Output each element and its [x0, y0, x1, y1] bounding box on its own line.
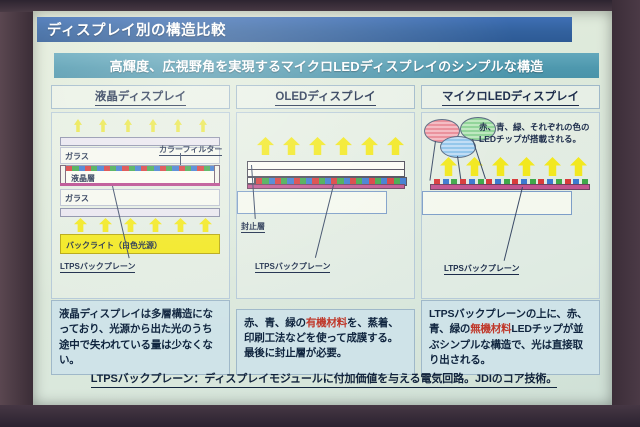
leader-chip-red [429, 141, 436, 181]
light-arrow [149, 119, 157, 132]
column-header-lcd: 液晶ディスプレイ [51, 85, 230, 109]
light-arrow [124, 119, 132, 132]
light-arrow [518, 157, 535, 176]
slide-title: ディスプレイ別の構造比較 [37, 19, 226, 40]
backlight-arrow [149, 218, 162, 232]
screen-frame-left [0, 0, 34, 427]
label-encapsulation: 封止層 [241, 221, 265, 233]
backlight-arrow [174, 218, 187, 232]
description-oled: 赤、青、緑の有機材料を、蒸着、印刷工法などを使って成膜する。最後に封止層が必要。 [236, 309, 415, 375]
label-color-filter: カラーフィルター [159, 144, 222, 156]
label-ltps-backplane: LTPSバックプレーン [60, 261, 135, 273]
column-header-oled: OLEDディスプレイ [236, 85, 415, 109]
column-title-microled: マイクロLEDディスプレイ [442, 88, 579, 106]
column-microled: マイクロLEDディスプレイ 赤、青、緑、それぞれの色のLEDチップが搭載される。 [421, 85, 600, 375]
description-highlight: 有機材料 [306, 317, 347, 329]
led-chip-bubble-blue [440, 136, 476, 158]
layer-lc-side-right [214, 165, 220, 185]
backlight-arrow [199, 218, 212, 232]
footer-note-text: LTPSバックプレーン：ディスプレイモジュールに付加価値を与える電気回路。JDI… [91, 370, 557, 388]
label-ltps-backplane: LTPSバックプレーン [255, 261, 330, 273]
layer-ltps-backplane-bar [430, 184, 590, 190]
leader-chip-blue [457, 156, 461, 181]
light-arrow [492, 157, 509, 176]
callout-text: 赤、青、緑、それぞれの色のLEDチップが搭載される。 [479, 122, 590, 144]
label-glass-upper: ガラス [65, 151, 89, 162]
layer-tft-line [60, 183, 220, 186]
light-arrow [199, 119, 207, 132]
layer-oled-backplane-line [247, 184, 405, 189]
light-arrow [570, 157, 587, 176]
light-arrow [361, 137, 378, 155]
layer-polarizer-bottom [60, 208, 220, 217]
slide-title-bar: ディスプレイ別の構造比較 [37, 17, 572, 42]
description-text-lcd: 液晶ディスプレイは多層構造になっており、光源から出た光のうち途中で失われている量… [59, 308, 213, 366]
light-arrow [544, 157, 561, 176]
column-lcd: 液晶ディスプレイ ガラス [51, 85, 230, 375]
light-arrow [335, 137, 352, 155]
projected-slide: ディスプレイ別の構造比較 高輝度、広視野角を実現するマイクロLEDディスプレイの… [33, 11, 612, 405]
footer-note: LTPSバックプレーン：ディスプレイモジュールに付加価値を与える電気回路。JDI… [57, 367, 591, 391]
light-arrow [387, 137, 404, 155]
backlight-arrow [124, 218, 137, 232]
layer-encapsulation [247, 161, 405, 170]
light-arrow [174, 119, 182, 132]
light-arrow [74, 119, 82, 132]
description-lcd: 液晶ディスプレイは多層構造になっており、光源から出た光のうち途中で失われている量… [51, 300, 230, 375]
layer-substrate [237, 191, 387, 214]
comparison-columns: 液晶ディスプレイ ガラス [51, 85, 601, 375]
leader-color-filter [180, 153, 181, 165]
diagram-lcd: ガラス カラーフィルター [51, 112, 230, 299]
slide-subtitle-bar: 高輝度、広視野角を実現するマイクロLEDディスプレイのシンプルな構造 [54, 53, 599, 78]
label-glass-lower: ガラス [65, 193, 89, 204]
layer-lc-side-left [60, 165, 66, 185]
backlight-arrow [99, 218, 112, 232]
label-backlight: バックライト（白色光源） [66, 240, 162, 251]
layer-encapsulation-2 [247, 170, 405, 177]
description-text-part: 赤、青、緑の [244, 317, 306, 329]
column-title-oled: OLEDディスプレイ [275, 88, 375, 106]
light-arrow [283, 137, 300, 155]
callout-microled: 赤、青、緑、それぞれの色のLEDチップが搭載される。 [479, 121, 597, 146]
diagram-microled: 赤、青、緑、それぞれの色のLEDチップが搭載される。 [421, 112, 600, 299]
description-microled: LTPSバックプレーンの上に、赤、青、緑の無機材料LEDチップが並ぶシンプルな構… [421, 300, 600, 375]
screenshot-root: ディスプレイ別の構造比較 高輝度、広視野角を実現するマイクロLEDディスプレイの… [0, 0, 640, 427]
column-header-microled: マイクロLEDディスプレイ [421, 85, 600, 109]
screen-frame-right [612, 0, 640, 427]
light-arrow [257, 137, 274, 155]
layer-substrate [422, 191, 572, 215]
description-highlight: 無機材料 [470, 323, 511, 335]
diagram-oled: 封止層 LTPSバックプレーン [236, 112, 415, 299]
slide-subtitle: 高輝度、広視野角を実現するマイクロLEDディスプレイのシンプルな構造 [110, 56, 544, 75]
column-oled: OLEDディスプレイ [236, 85, 415, 375]
screen-frame-bottom [0, 405, 640, 427]
backlight-arrow [74, 218, 87, 232]
light-arrow [440, 157, 457, 176]
light-arrow [309, 137, 326, 155]
light-arrow [99, 119, 107, 132]
label-ltps-backplane: LTPSバックプレーン [444, 263, 519, 275]
column-title-lcd: 液晶ディスプレイ [95, 88, 186, 106]
